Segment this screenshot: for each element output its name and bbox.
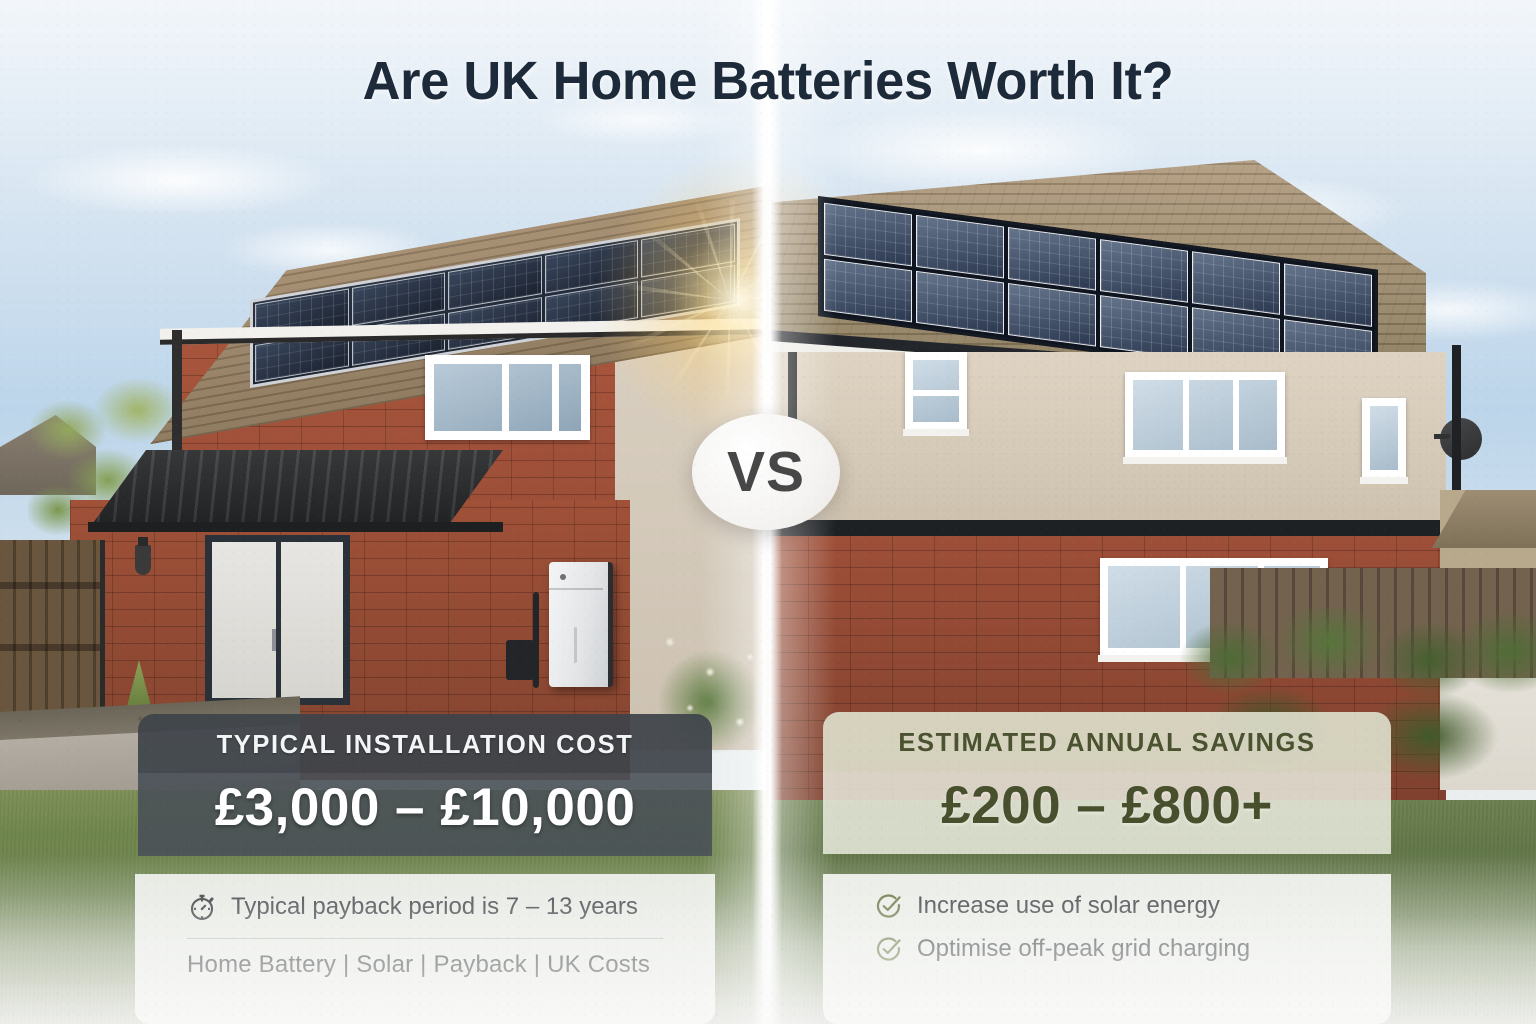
topic-tags: Home Battery | Solar | Payback | UK Cost… [135,939,715,979]
benefit-label: Optimise off-peak grid charging [917,935,1250,963]
vs-badge: VS [692,414,840,530]
right-house-window-narrow [1362,398,1406,478]
payback-note-row: Typical payback period is 7 – 13 years [135,874,715,922]
battery-isolator-box [506,640,534,680]
cost-card: TYPICAL INSTALLATION COST £3,000 – £10,0… [138,714,712,856]
circle-check-icon [875,892,903,920]
cost-card-header: TYPICAL INSTALLATION COST [138,714,712,773]
savings-card-amount: £200 – £800+ [823,771,1391,854]
porch-lamp-icon [135,545,151,575]
cost-card-amount: £3,000 – £10,000 [138,773,712,856]
front-door [205,535,350,705]
circle-check-icon [875,935,903,963]
vs-label: VS [727,439,805,505]
benefit-label: Increase use of solar energy [917,892,1220,920]
savings-card: ESTIMATED ANNUAL SAVINGS £200 – £800+ [823,712,1391,854]
satellite-dish-icon [1440,418,1482,460]
page-title: Are UK Home Batteries Worth It? [23,50,1513,112]
infographic-canvas: VS Are UK Home Batteries Worth It? TYPIC… [0,0,1536,1024]
left-house-window [425,355,590,440]
porch-roof [88,450,503,530]
savings-card-footer: Increase use of solar energy Optimise of… [823,874,1391,1024]
porch-roof-edge [88,522,503,532]
home-battery-unit [549,562,613,687]
payback-note-text: Typical payback period is 7 – 13 years [231,893,638,921]
stopwatch-icon [187,892,217,922]
cost-card-footer: Typical payback period is 7 – 13 years H… [135,874,715,1024]
right-house-render-wall [766,352,1446,534]
savings-card-header: ESTIMATED ANNUAL SAVINGS [823,712,1391,771]
wooden-fence-left [0,540,105,725]
benefit-row: Increase use of solar energy [823,874,1391,920]
right-house-window-large [1125,372,1285,458]
right-house-window-small [905,352,967,430]
benefit-row: Optimise off-peak grid charging [823,920,1391,963]
